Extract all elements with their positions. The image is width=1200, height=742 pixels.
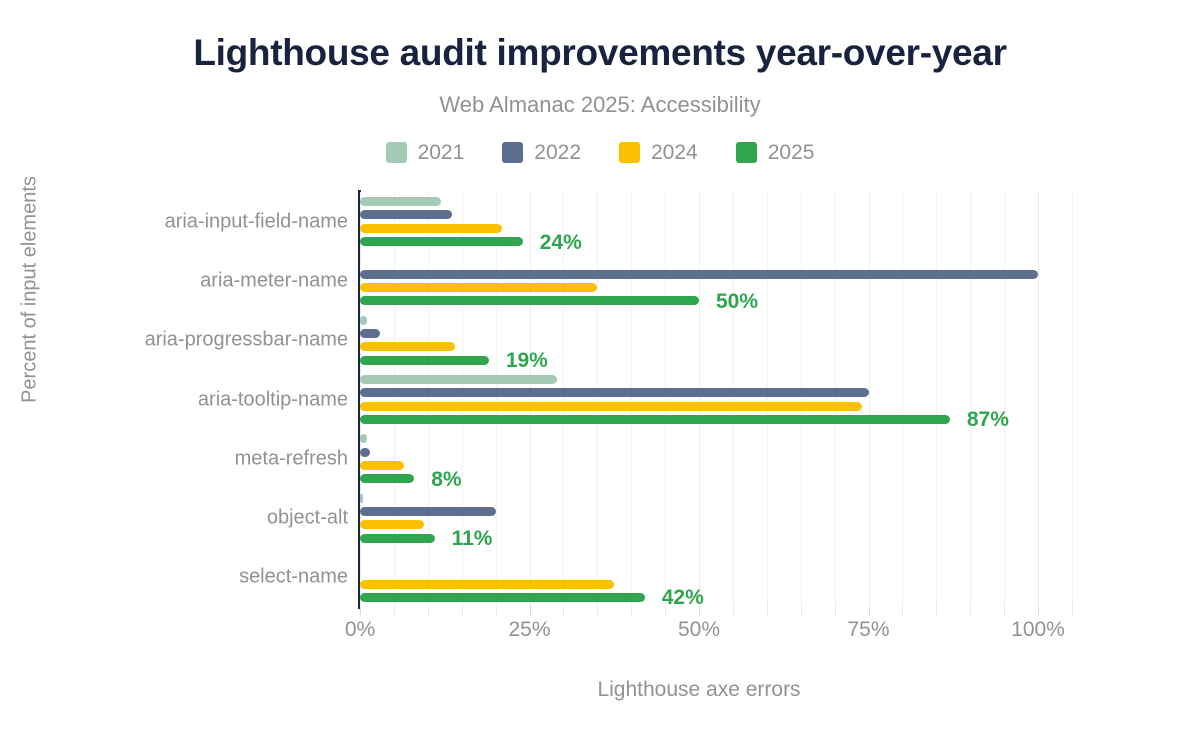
x-axis-tickmark [835, 607, 836, 615]
bar-2021-aria-input-field-name[interactable] [360, 197, 441, 206]
x-axis-tickmark [496, 607, 497, 615]
y-axis-label-meta-refresh: meta-refresh [18, 447, 348, 470]
bar-value-label: 19% [506, 350, 548, 371]
bar-2021-object-alt[interactable] [360, 494, 363, 503]
bar-2022-meta-refresh[interactable] [360, 448, 370, 457]
x-axis-tickmark [733, 607, 734, 615]
bar-2024-aria-meter-name[interactable] [360, 283, 597, 292]
bar-2024-object-alt[interactable] [360, 520, 424, 529]
bar-2021-aria-tooltip-name[interactable] [360, 375, 557, 384]
legend-item-2022[interactable]: 2022 [502, 142, 581, 163]
chart-container: Lighthouse audit improvements year-over-… [0, 0, 1200, 742]
gridline [1072, 192, 1073, 607]
x-axis-tick-label: 75% [847, 618, 889, 642]
legend-swatch-icon-2025 [736, 142, 757, 163]
bar-2024-aria-tooltip-name[interactable] [360, 402, 862, 411]
y-axis-label-aria-progressbar-name: aria-progressbar-name [18, 329, 348, 352]
x-axis-tick-label: 50% [678, 618, 720, 642]
y-axis-title: Percent of input elements [19, 110, 42, 470]
legend-swatch-icon-2024 [619, 142, 640, 163]
bar-2025-object-alt[interactable] [360, 534, 435, 543]
gridline [936, 192, 937, 607]
gridline [496, 192, 497, 607]
bar-2021-aria-progressbar-name[interactable] [360, 316, 367, 325]
legend-label: 2021 [418, 142, 465, 163]
bar-value-label: 42% [662, 587, 704, 608]
y-axis-label-object-alt: object-alt [18, 507, 348, 530]
y-axis-label-aria-input-field-name: aria-input-field-name [18, 210, 348, 233]
legend-item-2025[interactable]: 2025 [736, 142, 815, 163]
x-axis-tickmark [394, 607, 395, 615]
gridline [1004, 192, 1005, 607]
bar-2024-aria-input-field-name[interactable] [360, 224, 502, 233]
bar-2025-aria-meter-name[interactable] [360, 296, 699, 305]
y-axis-label-select-name: select-name [18, 566, 348, 589]
x-axis-tickmark [665, 607, 666, 615]
gridline [428, 192, 429, 607]
x-axis-tick-label: 0% [345, 618, 375, 642]
bar-value-label: 11% [452, 528, 493, 549]
chart-subtitle: Web Almanac 2025: Accessibility [0, 92, 1200, 118]
x-axis-tickmark [801, 607, 802, 615]
legend-label: 2025 [768, 142, 815, 163]
bar-2022-object-alt[interactable] [360, 507, 496, 516]
y-axis-category-labels: aria-input-field-namearia-meter-namearia… [12, 192, 348, 607]
gridline [835, 192, 836, 607]
legend-item-2024[interactable]: 2024 [619, 142, 698, 163]
gridline [1038, 192, 1039, 607]
bar-value-label: 50% [716, 291, 758, 312]
x-axis-tickmark [530, 607, 531, 615]
gridline [360, 192, 361, 607]
x-axis-tick-label: 100% [1011, 618, 1065, 642]
gridline [970, 192, 971, 607]
bar-value-label: 8% [431, 469, 461, 490]
bar-2025-aria-progressbar-name[interactable] [360, 356, 489, 365]
x-axis-tickmark [1072, 607, 1073, 615]
x-axis-tickmark [902, 607, 903, 615]
chart-title: Lighthouse audit improvements year-over-… [0, 32, 1200, 74]
bar-2022-aria-meter-name[interactable] [360, 270, 1038, 279]
x-axis-tickmark [631, 607, 632, 615]
bar-2025-meta-refresh[interactable] [360, 474, 414, 483]
x-axis-tickmark [428, 607, 429, 615]
x-axis-tickmark [597, 607, 598, 615]
bar-value-label: 87% [967, 409, 1009, 430]
legend-label: 2022 [534, 142, 581, 163]
legend-label: 2024 [651, 142, 698, 163]
bar-2024-select-name[interactable] [360, 580, 614, 589]
bar-2021-meta-refresh[interactable] [360, 434, 367, 443]
legend-swatch-icon-2021 [386, 142, 407, 163]
gridline [733, 192, 734, 607]
y-axis-label-aria-tooltip-name: aria-tooltip-name [18, 388, 348, 411]
x-axis-tickmark [462, 607, 463, 615]
x-axis-title: Lighthouse axe errors [360, 678, 1038, 702]
x-axis-tickmark [970, 607, 971, 615]
gridline [563, 192, 564, 607]
x-axis-tickmark [869, 607, 870, 615]
bar-2022-aria-progressbar-name[interactable] [360, 329, 380, 338]
gridline [767, 192, 768, 607]
gridline [394, 192, 395, 607]
bar-2025-aria-tooltip-name[interactable] [360, 415, 950, 424]
bar-value-label: 24% [540, 232, 582, 253]
x-axis-tickmark [1004, 607, 1005, 615]
x-axis-tickmark [936, 607, 937, 615]
x-axis-tickmark [360, 607, 361, 615]
x-axis-ticks: 0%25%50%75%100% [360, 607, 1038, 647]
x-axis-tickmark [563, 607, 564, 615]
y-axis-label-aria-meter-name: aria-meter-name [18, 269, 348, 292]
bar-2025-aria-input-field-name[interactable] [360, 237, 523, 246]
bar-2022-aria-tooltip-name[interactable] [360, 388, 869, 397]
gridline [869, 192, 870, 607]
bar-2022-aria-input-field-name[interactable] [360, 210, 452, 219]
gridline [699, 192, 700, 607]
legend-item-2021[interactable]: 2021 [386, 142, 465, 163]
x-axis-tickmark [699, 607, 700, 615]
bar-2024-meta-refresh[interactable] [360, 461, 404, 470]
x-axis-tickmark [767, 607, 768, 615]
gridline [597, 192, 598, 607]
bar-2024-aria-progressbar-name[interactable] [360, 342, 455, 351]
x-axis-tickmark [1038, 607, 1039, 615]
gridline [902, 192, 903, 607]
bar-2025-select-name[interactable] [360, 593, 645, 602]
chart-legend: 2021202220242025 [0, 142, 1200, 163]
x-axis-tick-label: 25% [508, 618, 550, 642]
gridline [530, 192, 531, 607]
gridline [631, 192, 632, 607]
gridline [665, 192, 666, 607]
gridline [801, 192, 802, 607]
legend-swatch-icon-2022 [502, 142, 523, 163]
plot-area: 24%50%19%87%8%11%42% [360, 192, 1038, 607]
